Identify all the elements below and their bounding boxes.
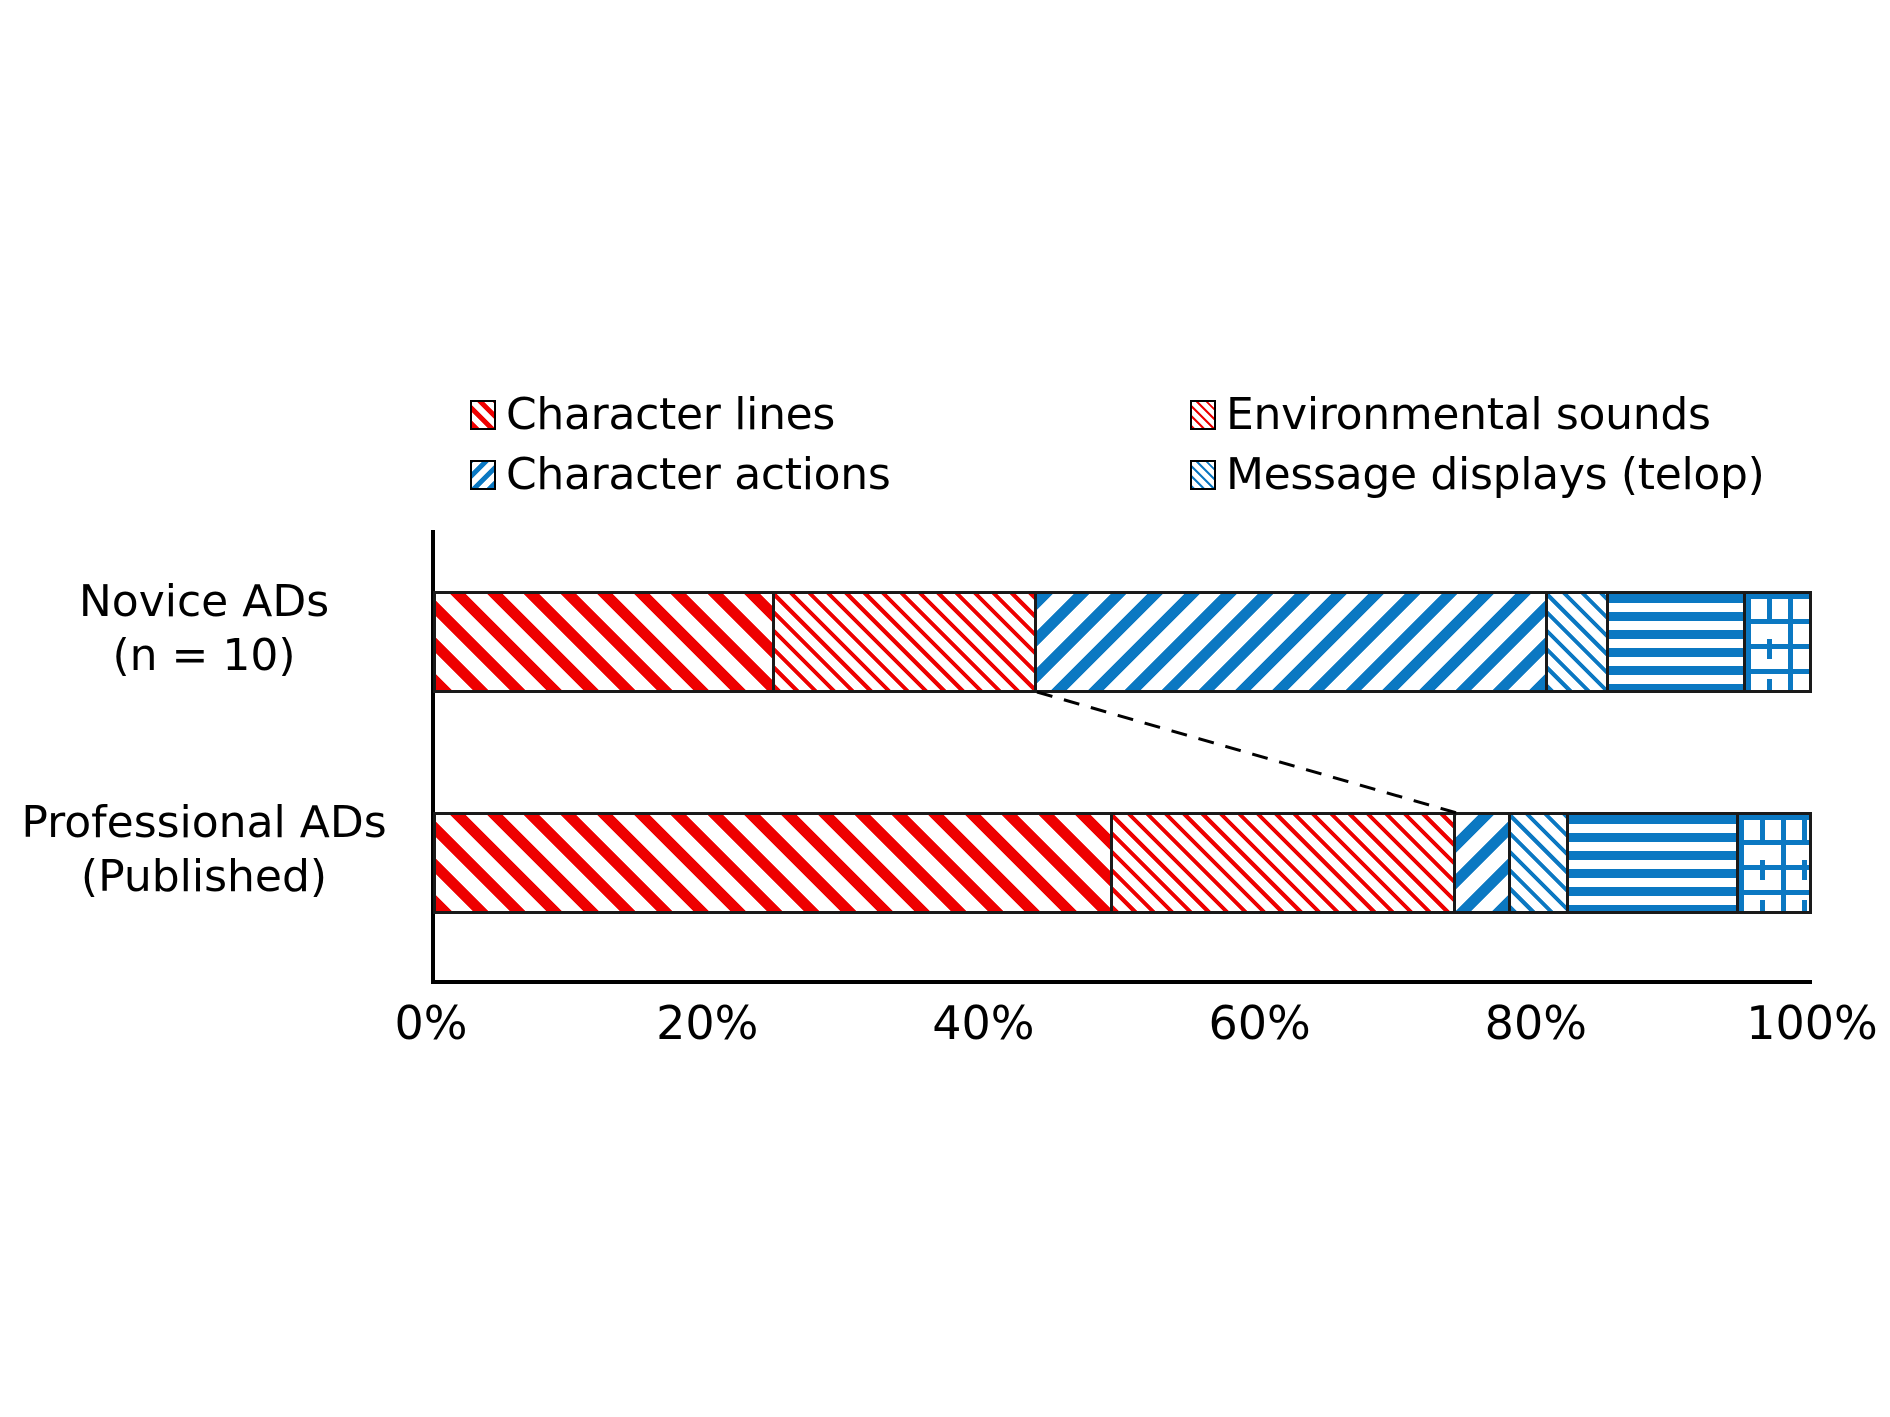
brick-offset-overlay — [1746, 594, 1809, 690]
bar-segment-character-actions — [1037, 594, 1548, 690]
chart-legend: Character lines Environmental sounds Cha… — [470, 385, 1810, 505]
bar-segment-character-lines — [436, 815, 1113, 911]
bar-segment-blue-brick — [1746, 594, 1809, 690]
x-axis-line — [431, 980, 1812, 984]
legend-label-message-displays: Message displays (telop) — [1226, 451, 1765, 499]
stacked-bar-chart-figure: Character lines Environmental sounds Cha… — [0, 0, 1890, 1417]
y-category-label-professional-ads-line1: Professional ADs — [0, 796, 414, 850]
legend-item-message-displays: Message displays (telop) — [1190, 445, 1810, 505]
legend-swatch-blue-diagonal-thick-icon — [470, 460, 496, 490]
x-tick-label-60: 60% — [1160, 995, 1360, 1051]
y-category-label-novice-ads-line1: Novice ADs — [0, 575, 414, 629]
legend-swatch-red-diagonal-fine-icon — [1190, 400, 1216, 430]
y-category-label-professional-ads-line2: (Published) — [0, 850, 414, 904]
legend-swatch-red-diagonal-thick-icon — [470, 400, 496, 430]
legend-item-environmental-sounds: Environmental sounds — [1190, 385, 1810, 445]
plot-area — [431, 530, 1812, 984]
bar-novice-ads — [433, 591, 1812, 693]
brick-offset-overlay — [1739, 815, 1809, 911]
bar-segment-character-lines — [436, 594, 775, 690]
y-category-label-novice-ads: Novice ADs (n = 10) — [0, 575, 414, 683]
legend-row-1: Character lines Environmental sounds — [470, 385, 1810, 445]
bar-segment-environmental-sounds — [775, 594, 1037, 690]
bar-segment-blue-horizontal — [1569, 815, 1739, 911]
legend-label-character-lines: Character lines — [506, 391, 835, 439]
legend-label-environmental-sounds: Environmental sounds — [1226, 391, 1711, 439]
bar-segment-message-displays — [1548, 594, 1608, 690]
legend-swatch-blue-diagonal-fine-icon — [1190, 460, 1216, 490]
x-tick-label-80: 80% — [1436, 995, 1636, 1051]
legend-item-character-lines: Character lines — [470, 385, 1190, 445]
bar-segment-blue-horizontal — [1609, 594, 1746, 690]
x-tick-label-0: 0% — [331, 995, 531, 1051]
x-tick-label-20: 20% — [607, 995, 807, 1051]
bar-segment-character-actions — [1456, 815, 1511, 911]
bar-segment-blue-brick — [1739, 815, 1809, 911]
bar-segment-message-displays — [1511, 815, 1569, 911]
bar-segment-environmental-sounds — [1113, 815, 1456, 911]
legend-label-character-actions: Character actions — [506, 451, 890, 499]
y-category-label-novice-ads-line2: (n = 10) — [0, 629, 414, 683]
legend-item-character-actions: Character actions — [470, 445, 1190, 505]
x-tick-label-40: 40% — [883, 995, 1083, 1051]
legend-row-2: Character actions Message displays (telo… — [470, 445, 1810, 505]
x-tick-label-100: 100% — [1712, 995, 1890, 1051]
bar-professional-ads — [433, 812, 1812, 914]
y-category-label-professional-ads: Professional ADs (Published) — [0, 796, 414, 904]
x-axis-tick-labels: 0% 20% 40% 60% 80% 100% — [431, 995, 1812, 1055]
